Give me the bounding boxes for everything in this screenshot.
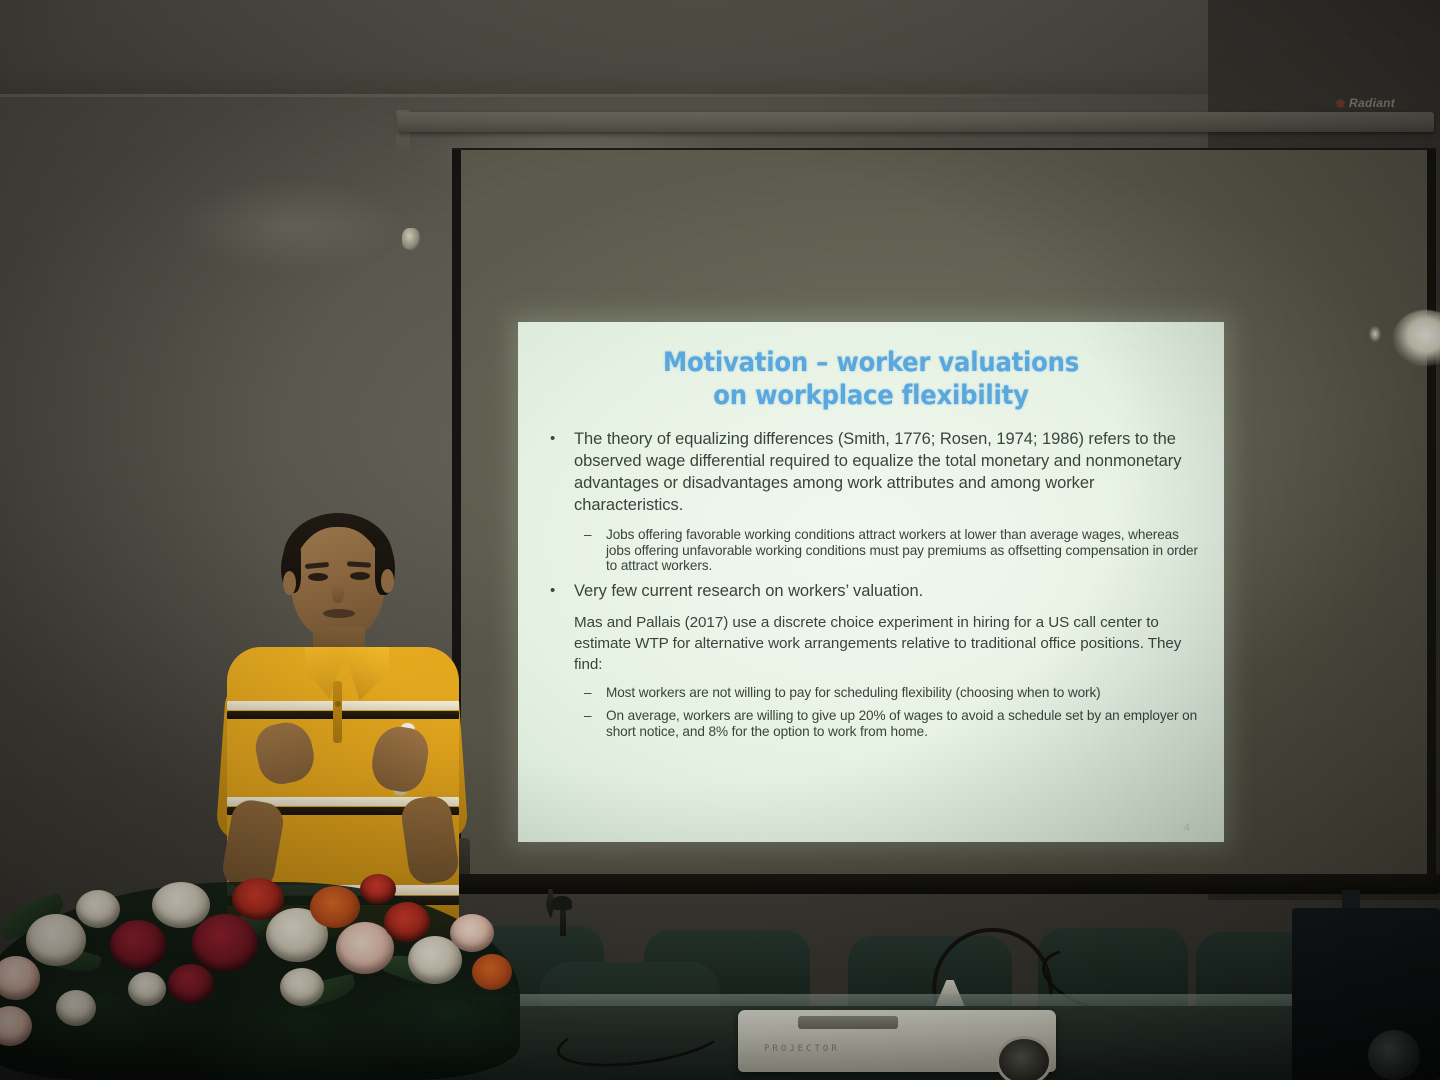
screen-bottom-bar	[444, 874, 1440, 894]
flower-white-rose	[128, 972, 166, 1006]
slide-paragraph-mas-pallais: Mas and Pallais (2017) use a discrete ch…	[536, 613, 1206, 675]
slide-title: Motivation – worker valuations on workpl…	[536, 346, 1206, 413]
projector-brand-label: PROJECTOR	[764, 1044, 840, 1054]
presenter-nose	[332, 583, 344, 603]
flower-orange-dahlia	[310, 886, 360, 928]
bullet-glyph-icon: •	[550, 581, 555, 601]
flower-dark-red-rose	[110, 920, 166, 970]
flower-white-rose	[76, 890, 120, 928]
screen-roller-housing	[398, 112, 1434, 132]
flower-red-dahlia	[384, 902, 430, 942]
flower-red-dahlia	[360, 874, 396, 904]
projector-vent	[798, 1016, 898, 1029]
photo-scene: Radiant Motivation – worker valuations o…	[0, 0, 1440, 1080]
flower-white-rose	[26, 914, 86, 966]
flower-orange-dahlia	[472, 954, 512, 990]
projector-lens-icon	[996, 1036, 1052, 1080]
shirt-stripe	[227, 701, 459, 710]
slide-bullet-1: • The theory of equalizing differences (…	[536, 429, 1206, 517]
presenter-shirt-button	[335, 701, 341, 707]
presenter-eye-right	[350, 572, 370, 580]
microphone-icon	[552, 896, 572, 910]
wall-brand-plate: Radiant	[1336, 92, 1430, 114]
slide-subbullet-2-text: Most workers are not willing to pay for …	[606, 685, 1101, 700]
speaker-cone-icon	[1368, 1030, 1420, 1080]
flower-dark-red-rose	[192, 914, 258, 972]
slide-subbullet-3-text: On average, workers are willing to give …	[606, 708, 1197, 739]
presenter-mouth	[323, 609, 355, 618]
brand-label: Radiant	[1349, 96, 1395, 110]
slide-bullet-2-text: Very few current research on workers’ va…	[574, 582, 923, 600]
slide-title-line-1: Motivation – worker valuations	[536, 346, 1206, 379]
presenter-ear-right	[381, 569, 394, 593]
presenter-shirt-placket	[333, 681, 342, 743]
slide-bullet-2: • Very few current research on workers’ …	[536, 581, 1206, 603]
flower-pink-rose	[450, 914, 494, 952]
presenter-ear-left	[283, 571, 296, 595]
slide-number: 4	[1184, 822, 1190, 834]
brand-logo-icon	[1336, 99, 1345, 108]
projector-hotspot-glare-small	[1369, 326, 1381, 342]
slide-bullet-1-text: The theory of equalizing differences (Sm…	[574, 430, 1181, 514]
projector: PROJECTOR	[738, 1010, 1056, 1072]
slide-body: • The theory of equalizing differences (…	[536, 429, 1206, 740]
flower-white-rose	[280, 968, 324, 1006]
slide-subbullet-3: – On average, workers are willing to giv…	[536, 708, 1206, 740]
dash-glyph-icon: –	[584, 685, 591, 701]
dash-glyph-icon: –	[584, 708, 591, 724]
slide-subbullet-1-text: Jobs offering favorable working conditio…	[606, 527, 1198, 574]
bullet-glyph-icon: •	[550, 429, 555, 449]
dash-glyph-icon: –	[584, 527, 591, 543]
slide-subbullet-2: – Most workers are not willing to pay fo…	[536, 685, 1206, 701]
flower-arrangement	[0, 830, 540, 1080]
flower-white-rose	[56, 990, 96, 1026]
presenter-eye-left	[308, 573, 328, 581]
wall-bracket-icon	[402, 228, 420, 250]
slide-title-line-2: on workplace flexibility	[536, 379, 1206, 412]
slide-subbullet-1: – Jobs offering favorable working condit…	[536, 527, 1206, 575]
projected-slide: Motivation – worker valuations on workpl…	[518, 322, 1224, 842]
flower-dark-red-rose	[168, 964, 214, 1004]
shirt-stripe	[227, 711, 459, 719]
